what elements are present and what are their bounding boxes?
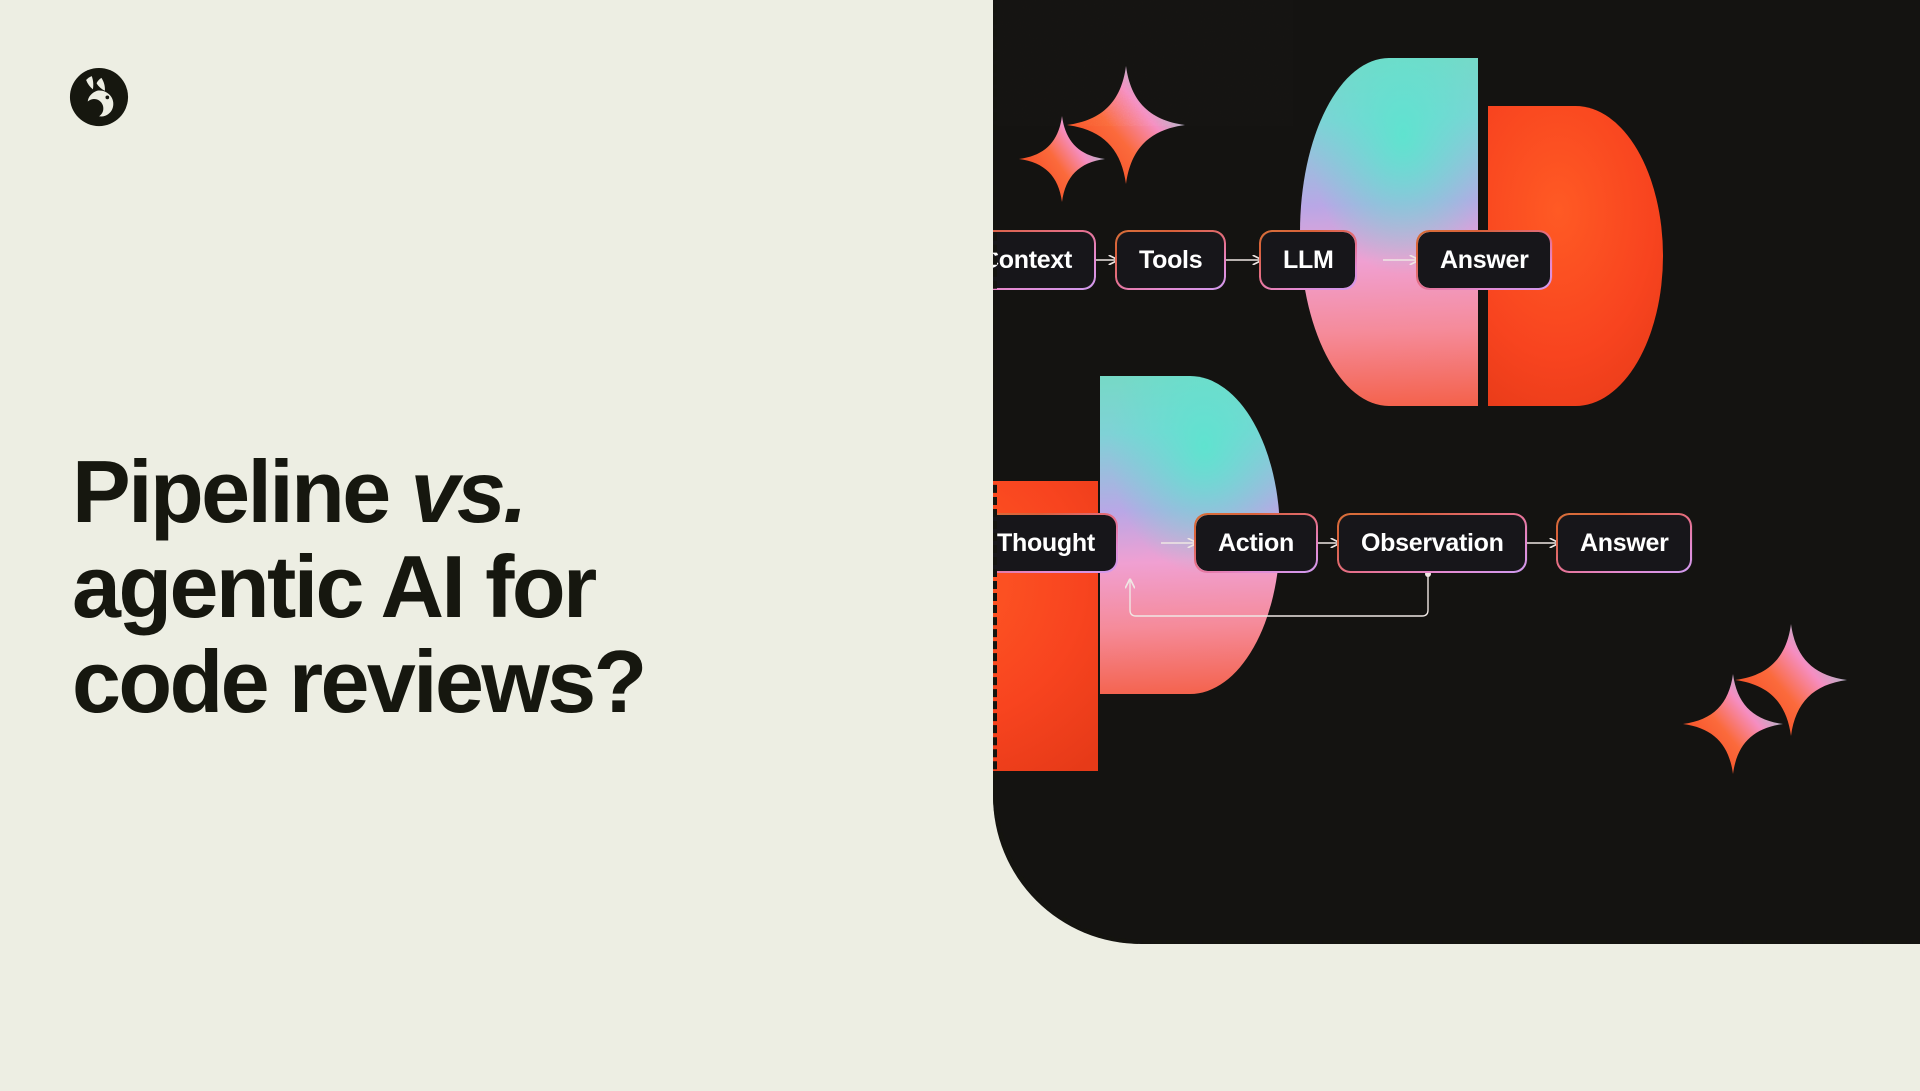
node-tools[interactable]: Tools <box>1117 232 1224 288</box>
node-answer-pipeline[interactable]: Answer <box>1418 232 1551 288</box>
sparkle-bottom-right-small <box>1683 674 1783 774</box>
page-title: Pipeline vs. agentic AI for code reviews… <box>72 444 852 729</box>
node-action[interactable]: Action <box>1196 515 1316 571</box>
node-label: Observation <box>1361 529 1504 558</box>
diagram-panel-surface: User Context Tools LLM Answer Thought Ac… <box>993 0 1920 944</box>
node-label: Thought <box>997 529 1095 558</box>
headline-line-3: code reviews? <box>72 632 645 731</box>
node-answer-agentic[interactable]: Answer <box>1558 515 1691 571</box>
node-label: LLM <box>1283 246 1333 275</box>
diagram-panel: User Context Tools LLM Answer Thought Ac… <box>993 0 1920 944</box>
node-label: User Context <box>993 246 1072 275</box>
node-label: Action <box>1218 529 1294 558</box>
node-label: Answer <box>1440 246 1529 275</box>
node-observation[interactable]: Observation <box>1339 515 1526 571</box>
headline-line-2: agentic AI for <box>72 537 595 636</box>
sparkle-top-left-large <box>1067 66 1185 184</box>
node-user-context[interactable]: User Context <box>993 232 1094 288</box>
node-label: Tools <box>1139 246 1202 275</box>
node-label: Answer <box>1580 529 1669 558</box>
node-thought[interactable]: Thought <box>993 515 1117 571</box>
headline-line-1-italic: vs. <box>410 442 525 541</box>
node-llm[interactable]: LLM <box>1261 232 1355 288</box>
rabbit-logo-icon <box>68 66 130 128</box>
poster-canvas: Pipeline vs. agentic AI for code reviews… <box>0 0 1920 1091</box>
headline-line-1-a: Pipeline <box>72 442 410 541</box>
